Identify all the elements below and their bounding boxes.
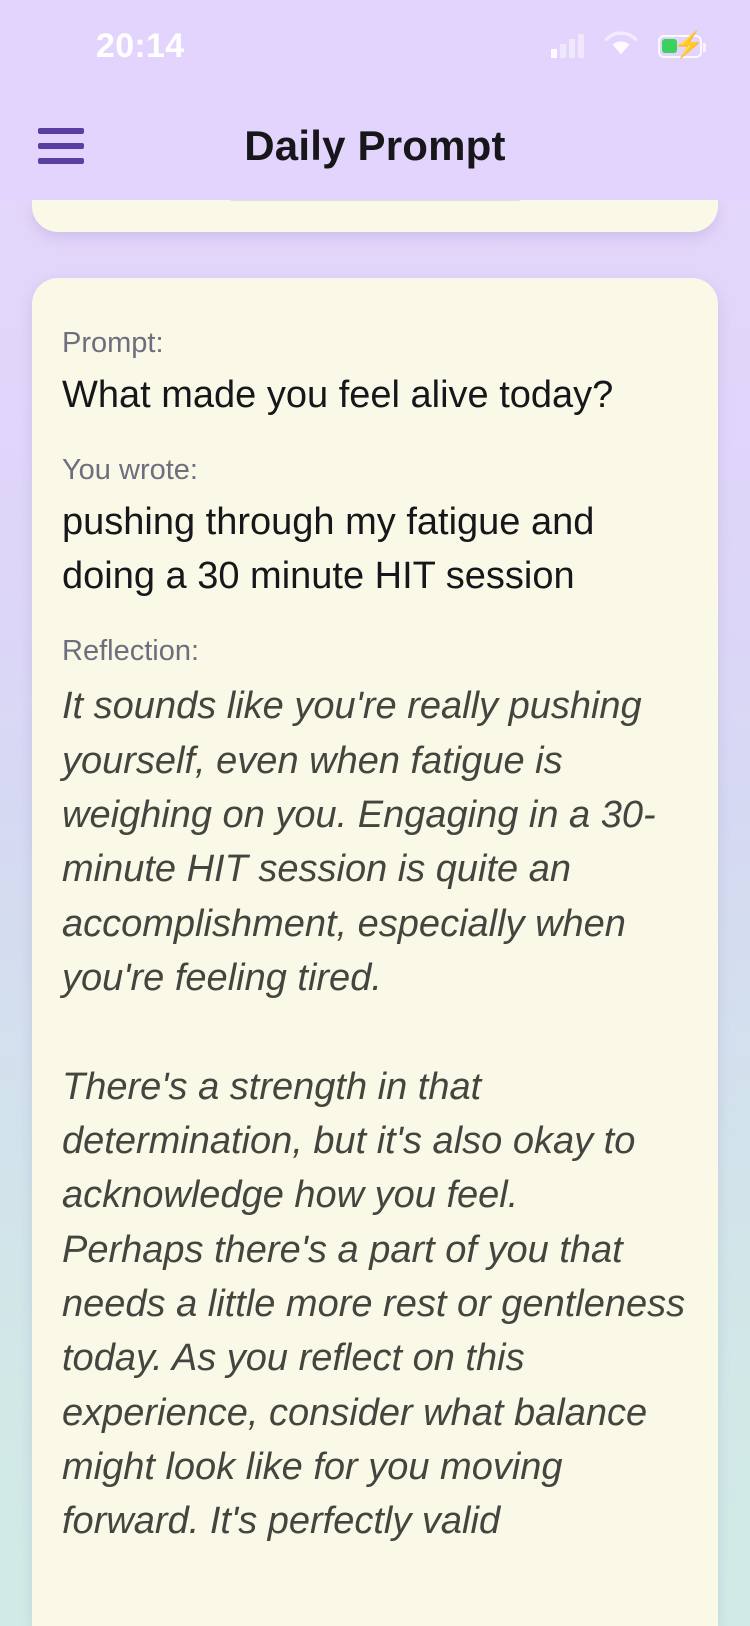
- previous-entry-card-partial[interactable]: [32, 200, 718, 232]
- app-bar: Daily Prompt: [0, 92, 750, 200]
- page-title: Daily Prompt: [0, 122, 750, 170]
- reflection-text: It sounds like you're really pushing you…: [62, 679, 688, 1548]
- cellular-signal-icon: [551, 34, 584, 58]
- reflection-label: Reflection:: [62, 632, 688, 671]
- status-bar-icons: ⚡: [551, 31, 702, 62]
- journal-entry-card[interactable]: Prompt: What made you feel alive today? …: [32, 278, 718, 1626]
- prompt-text: What made you feel alive today?: [62, 369, 688, 423]
- charging-bolt-icon: ⚡: [673, 33, 704, 58]
- wifi-icon: [604, 31, 638, 62]
- prompt-label: Prompt:: [62, 324, 688, 363]
- response-text: pushing through my fatigue and doing a 3…: [62, 496, 688, 604]
- status-bar-clock: 20:14: [96, 29, 184, 63]
- status-bar: 20:14 ⚡: [0, 0, 750, 92]
- entry-scroll-area[interactable]: Prompt: What made you feel alive today? …: [0, 200, 750, 1626]
- card-divider: [230, 200, 520, 201]
- battery-charging-icon: ⚡: [658, 35, 702, 58]
- app-header: 20:14 ⚡ Daily Prompt: [0, 0, 750, 200]
- response-label: You wrote:: [62, 451, 688, 490]
- hamburger-menu-icon[interactable]: [32, 117, 90, 175]
